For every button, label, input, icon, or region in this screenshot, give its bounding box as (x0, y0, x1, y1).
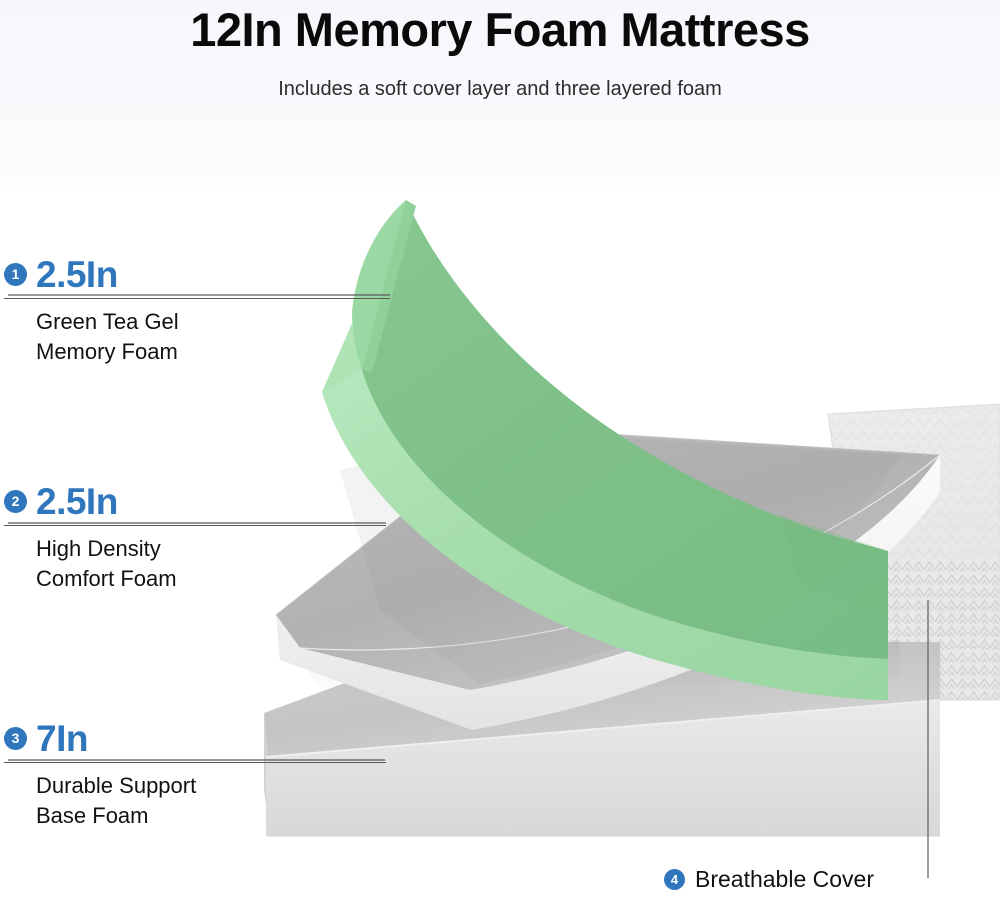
callout-high-density-comfort-foam: 2 2.5In High Density Comfort Foam (4, 479, 386, 594)
callout-green-tea-gel-memory-foam: 1 2.5In Green Tea Gel Memory Foam (4, 252, 390, 367)
callout-3-head: 3 7In (4, 716, 386, 760)
callout-4-description: Breathable Cover (695, 866, 874, 893)
callout-3-description: Durable Support Base Foam (36, 771, 386, 831)
callout-2-head: 2 2.5In (4, 479, 386, 523)
callout-2-description: High Density Comfort Foam (36, 534, 386, 594)
number-badge-4-icon: 4 (664, 869, 685, 890)
number-badge-3-icon: 3 (4, 727, 27, 750)
number-badge-1-icon: 1 (4, 263, 27, 286)
callout-2-rule (4, 525, 386, 526)
callout-3-measure: 7In (36, 720, 88, 757)
callout-durable-support-base-foam: 3 7In Durable Support Base Foam (4, 716, 386, 831)
callout-1-head: 1 2.5In (4, 252, 390, 296)
callout-1-description: Green Tea Gel Memory Foam (36, 307, 390, 367)
callout-1-measure: 2.5In (36, 256, 118, 293)
mattress-infographic: 12In Memory Foam Mattress Includes a sof… (0, 0, 1000, 908)
callout-breathable-cover: 4 Breathable Cover (664, 866, 874, 893)
callout-1-rule (4, 298, 390, 299)
callout-3-rule (4, 762, 386, 763)
number-badge-2-icon: 2 (4, 490, 27, 513)
callout-2-measure: 2.5In (36, 483, 118, 520)
